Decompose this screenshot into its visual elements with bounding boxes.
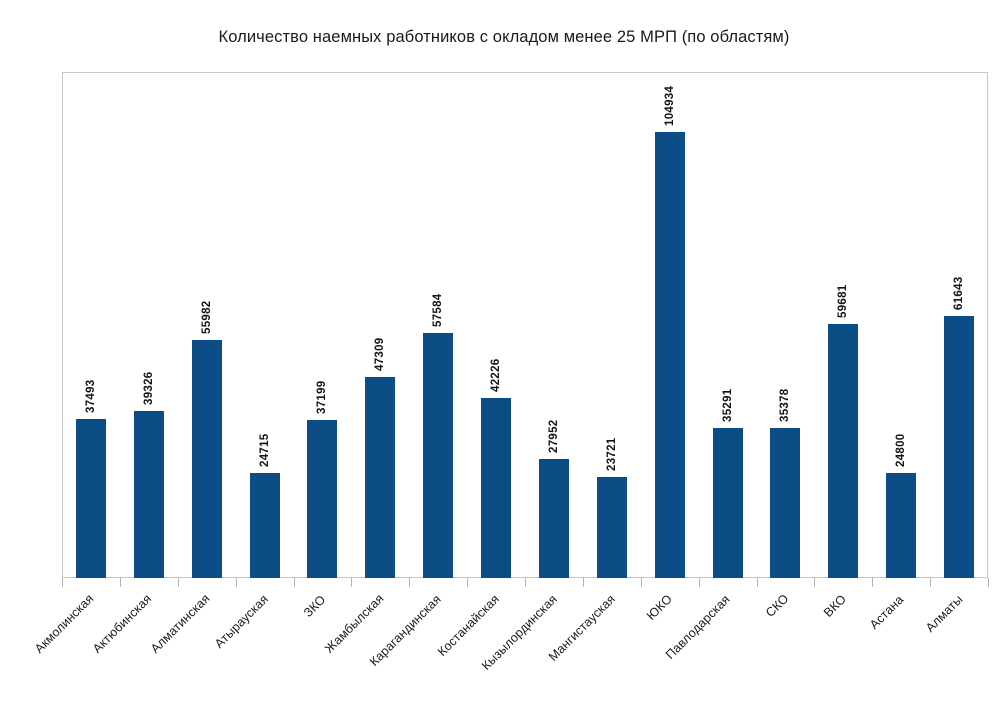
x-tick xyxy=(236,578,237,587)
bar-value-label: 59681 xyxy=(837,285,849,318)
bar[interactable] xyxy=(250,473,280,578)
x-axis-category-label: Акмолинская xyxy=(32,592,96,656)
x-tick xyxy=(178,578,179,587)
bar-slot: 27952 xyxy=(525,72,583,578)
bar-slot: 39326 xyxy=(120,72,178,578)
bar[interactable] xyxy=(365,377,395,578)
bar[interactable] xyxy=(307,420,337,578)
x-tick xyxy=(467,578,468,587)
bar-value-label: 23721 xyxy=(606,438,618,471)
bar-value-label: 35378 xyxy=(779,388,791,421)
x-axis-category-label: ЮКО xyxy=(644,592,675,623)
bar-value-label: 24800 xyxy=(895,433,907,466)
bar-slot: 24800 xyxy=(872,72,930,578)
bar[interactable] xyxy=(539,459,569,578)
bar-value-label: 35291 xyxy=(722,388,734,421)
x-tick xyxy=(699,578,700,587)
bar-slot: 35291 xyxy=(699,72,757,578)
x-tick xyxy=(351,578,352,587)
x-axis-category-label: Алматинская xyxy=(148,592,213,657)
bar-slot: 59681 xyxy=(814,72,872,578)
x-tick xyxy=(583,578,584,587)
x-tick xyxy=(525,578,526,587)
bar-slot: 61643 xyxy=(930,72,988,578)
bar[interactable] xyxy=(944,316,974,578)
bar[interactable] xyxy=(76,419,106,578)
x-axis-category-label: Карагандинская xyxy=(367,592,444,669)
x-tick xyxy=(814,578,815,587)
x-axis-category-label: Актюбинская xyxy=(90,592,154,656)
bar[interactable] xyxy=(655,132,685,578)
chart-title: Количество наемных работников с окладом … xyxy=(0,28,1008,47)
bar-slot: 37199 xyxy=(294,72,352,578)
bar[interactable] xyxy=(597,477,627,578)
x-tick xyxy=(872,578,873,587)
bar-value-label: 104934 xyxy=(664,86,676,126)
bar-slot: 47309 xyxy=(351,72,409,578)
x-axis-category-label: Павлодарская xyxy=(663,592,733,662)
bar-chart: Количество наемных работников с окладом … xyxy=(0,0,1008,709)
bars-layer: 3749339326559822471537199473095758442226… xyxy=(62,72,988,578)
bar-value-label: 47309 xyxy=(374,337,386,370)
x-tick xyxy=(641,578,642,587)
bar[interactable] xyxy=(192,340,222,578)
x-axis-category-label: ЗКО xyxy=(301,592,328,619)
x-axis-category-label: Атырауская xyxy=(212,592,271,651)
bar-slot: 57584 xyxy=(409,72,467,578)
bar[interactable] xyxy=(481,398,511,578)
bar-value-label: 55982 xyxy=(201,300,213,333)
x-tick xyxy=(294,578,295,587)
bar-slot: 104934 xyxy=(641,72,699,578)
x-axis-category-label: Жамбылская xyxy=(322,592,387,657)
x-axis-category-label: Мангистауская xyxy=(546,592,618,664)
x-tick xyxy=(409,578,410,587)
x-tick xyxy=(930,578,931,587)
bar-value-label: 27952 xyxy=(548,420,560,453)
bar-value-label: 61643 xyxy=(953,276,965,309)
bar-slot: 42226 xyxy=(467,72,525,578)
bar[interactable] xyxy=(134,411,164,578)
bar-value-label: 57584 xyxy=(432,294,444,327)
bar[interactable] xyxy=(713,428,743,578)
bar[interactable] xyxy=(423,333,453,578)
bar-slot: 55982 xyxy=(178,72,236,578)
x-tick xyxy=(62,578,63,587)
bar-value-label: 42226 xyxy=(490,359,502,392)
bar-value-label: 39326 xyxy=(143,371,155,404)
bar[interactable] xyxy=(770,428,800,578)
bar-slot: 24715 xyxy=(236,72,294,578)
x-axis-ticks xyxy=(62,578,988,588)
x-tick xyxy=(120,578,121,587)
x-axis-category-label: ВКО xyxy=(821,592,849,620)
x-tick xyxy=(757,578,758,587)
bar-slot: 37493 xyxy=(62,72,120,578)
bar[interactable] xyxy=(828,324,858,578)
bar-value-label: 24715 xyxy=(259,433,271,466)
bar-value-label: 37199 xyxy=(316,380,328,413)
bar-slot: 35378 xyxy=(757,72,815,578)
x-axis-category-label: Астана xyxy=(867,592,906,631)
x-axis-category-label: Кызылординская xyxy=(479,592,560,673)
bar[interactable] xyxy=(886,473,916,578)
x-axis-category-label: СКО xyxy=(763,592,791,620)
x-axis-category-label: Костанайская xyxy=(435,592,502,659)
bar-slot: 23721 xyxy=(583,72,641,578)
x-axis-category-label: Алматы xyxy=(923,592,966,635)
bar-value-label: 37493 xyxy=(85,379,97,412)
x-tick xyxy=(988,578,989,587)
